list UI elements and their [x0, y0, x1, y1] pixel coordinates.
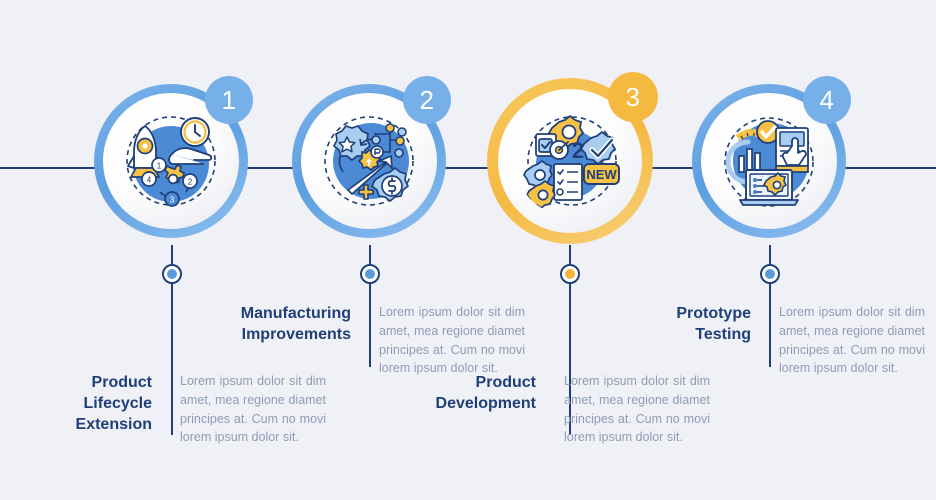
step-4-number: 4 — [820, 87, 835, 113]
step-4-title: Prototype Testing — [630, 303, 765, 345]
step-4-text: Prototype Testing Lorem ipsum dolor sit … — [630, 303, 925, 378]
step-2-badge: 2 — [403, 76, 451, 124]
step-1-icon: 1 2 3 4 — [116, 106, 226, 216]
step-1-body: Lorem ipsum dolor sit dim amet, mea regi… — [166, 372, 326, 447]
step-3-body: Lorem ipsum dolor sit dim amet, mea regi… — [550, 372, 710, 447]
svg-text:1: 1 — [157, 162, 162, 171]
step-1-title: Product Lifecycle Extension — [30, 372, 166, 435]
step-3-badge: 3 — [608, 72, 658, 122]
step-4-body: Lorem ipsum dolor sit dim amet, mea regi… — [765, 303, 925, 378]
svg-text:3: 3 — [170, 196, 175, 205]
svg-text:4: 4 — [147, 176, 152, 185]
step-2-body: Lorem ipsum dolor sit dim amet, mea regi… — [365, 303, 525, 378]
step-3-text: Product Development Lorem ipsum dolor si… — [415, 372, 710, 447]
step-2-icon — [314, 106, 424, 216]
step-2-title: Manufacturing Improvements — [205, 303, 365, 345]
step-2-number: 2 — [420, 87, 435, 113]
step-1-badge: 1 — [205, 76, 253, 124]
svg-text:2: 2 — [188, 178, 193, 187]
step-4-icon — [714, 106, 824, 216]
step-4-dot — [760, 264, 780, 284]
step-1-dot — [162, 264, 182, 284]
step-3-icon: 2 NEW — [515, 106, 625, 216]
step-3-dot — [560, 264, 580, 284]
step-2-text: Manufacturing Improvements Lorem ipsum d… — [205, 303, 525, 378]
step-3-title: Product Development — [415, 372, 550, 414]
infographic-canvas: 1 2 3 4 1 — [0, 0, 936, 500]
step-1-text: Product Lifecycle Extension Lorem ipsum … — [30, 372, 326, 447]
step-2-dot — [360, 264, 380, 284]
svg-text:NEW: NEW — [586, 167, 617, 182]
step-3-number: 3 — [626, 84, 641, 110]
step-4-badge: 4 — [803, 76, 851, 124]
step-1-number: 1 — [222, 87, 237, 113]
